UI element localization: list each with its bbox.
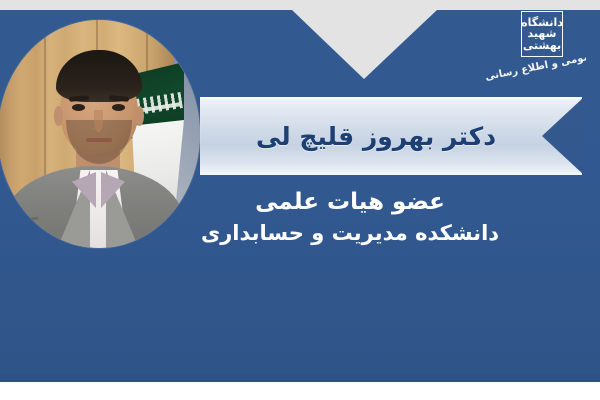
- person-title-block: عضو هیات علمی دانشکده مدیریت و حسابداری: [150, 188, 550, 247]
- profile-announcement-card: دکتر بهروز قلیچ لی عضو هیات علمی دانشکده…: [0, 0, 600, 400]
- panel-bottom-shade: [0, 374, 600, 382]
- university-logo: دانشگاه شهید بهشتی روابط عمومی و اطلاع ر…: [478, 8, 588, 90]
- logo-caption-area: روابط عمومی و اطلاع رسانی: [480, 48, 586, 88]
- eye-left: [72, 104, 85, 111]
- nose: [94, 110, 103, 132]
- person-name: دکتر بهروز قلیچ لی: [200, 97, 552, 175]
- person-role: عضو هیات علمی: [150, 188, 550, 218]
- person-faculty: دانشکده مدیریت و حسابداری: [150, 220, 550, 247]
- eye-right: [112, 104, 125, 111]
- ear-left: [54, 106, 63, 126]
- ear-right: [135, 106, 144, 126]
- logo-caption: روابط عمومی و اطلاع رسانی: [484, 48, 586, 83]
- mouth: [86, 138, 112, 142]
- profile-photo: [0, 20, 200, 248]
